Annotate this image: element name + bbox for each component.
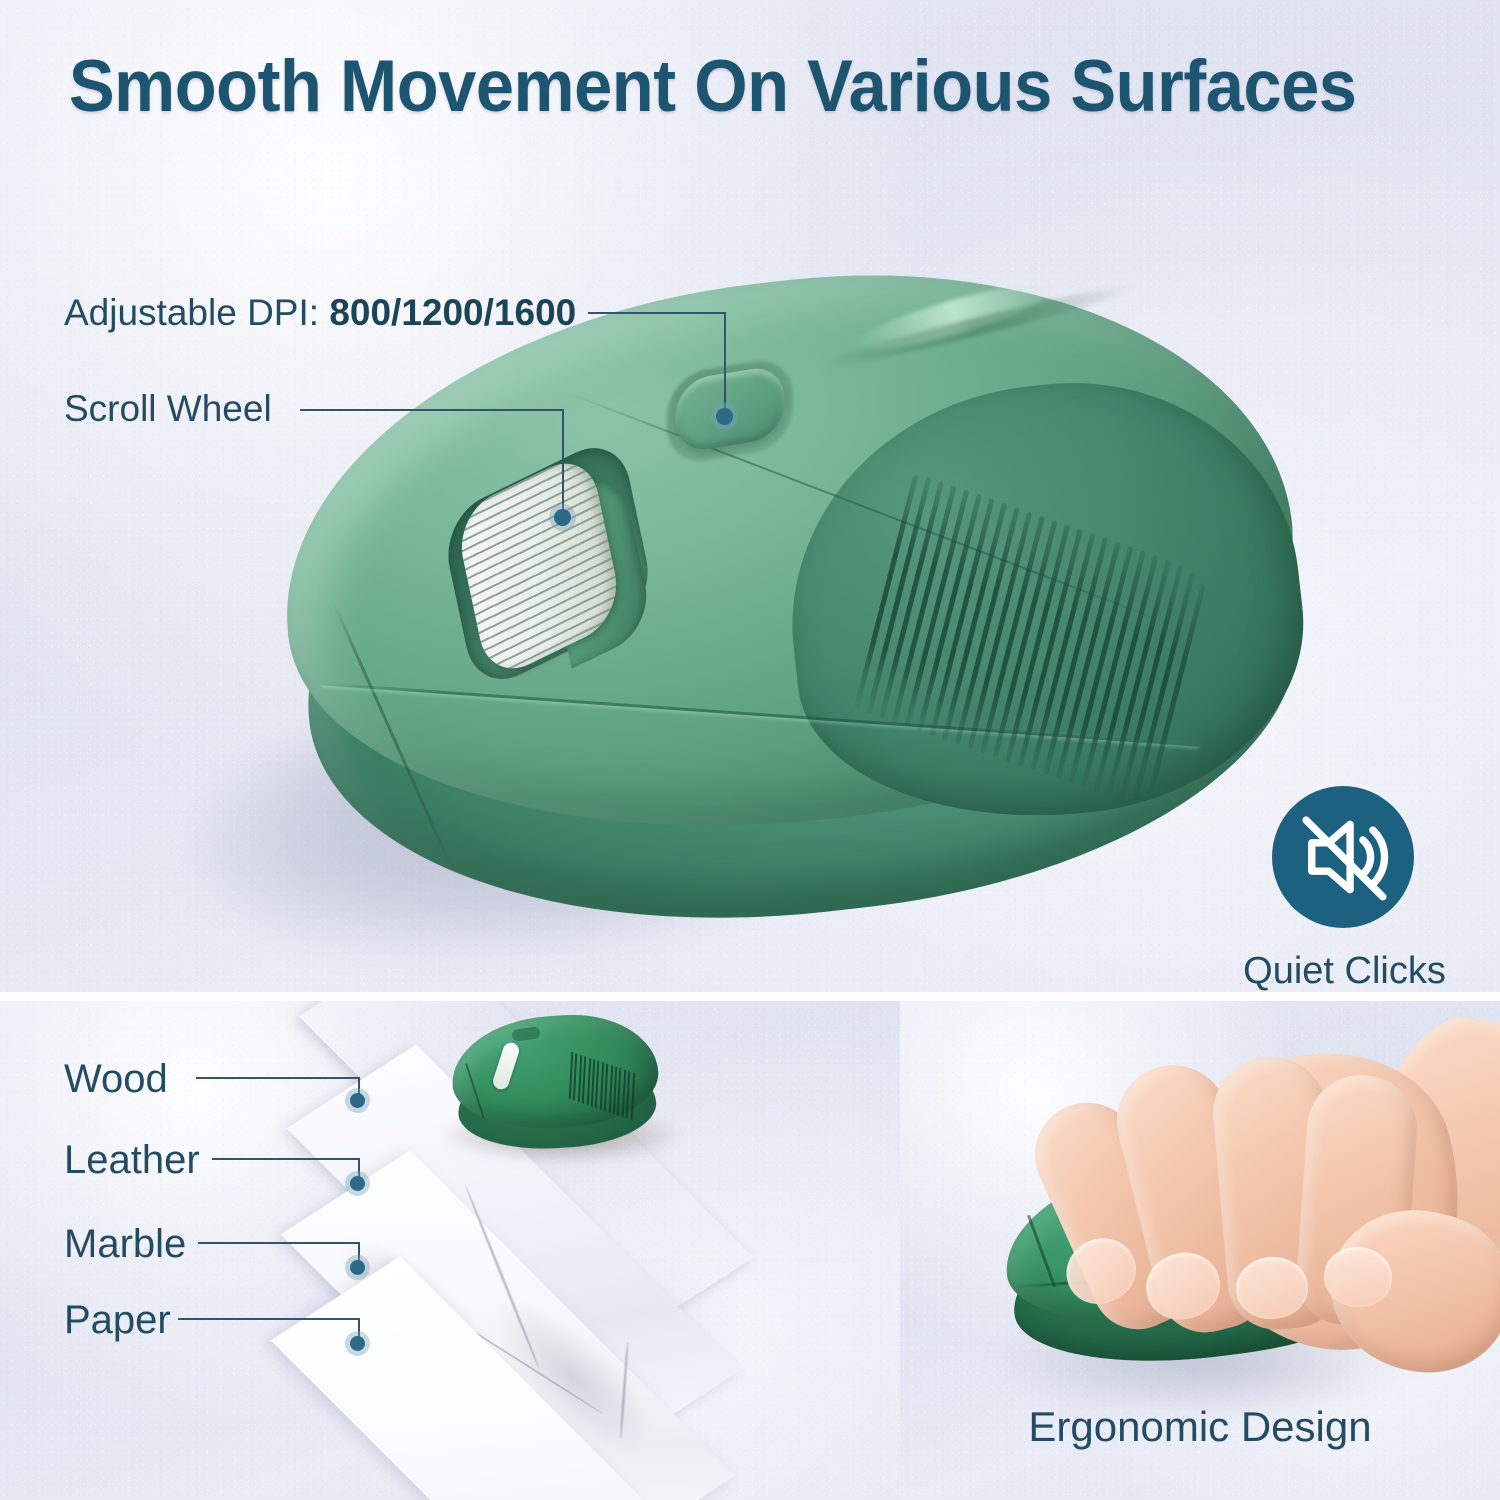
callout-dpi: Adjustable DPI: 800/1200/1600 — [64, 292, 576, 334]
marker-dot-scroll-wheel — [554, 509, 571, 526]
muted-speaker-icon — [1272, 786, 1414, 928]
marker-dot-paper — [350, 1336, 365, 1351]
quiet-clicks-label: Quiet Clicks — [1212, 950, 1477, 992]
main-mouse-product — [250, 258, 1310, 928]
marker-dot-leather — [350, 1176, 365, 1191]
panel-divider — [0, 992, 1500, 1001]
surface-label-marble: Marble — [64, 1222, 186, 1267]
marker-dot-wood — [350, 1093, 365, 1108]
surface-label-paper: Paper — [64, 1298, 171, 1343]
product-feature-image: Smooth Movement On Various Surfaces Adju… — [0, 0, 1500, 1500]
callout-scroll-wheel: Scroll Wheel — [64, 388, 272, 430]
quiet-clicks-badge — [1272, 786, 1414, 928]
ergonomic-design-caption: Ergonomic Design — [900, 1403, 1500, 1451]
marker-dot-dpi — [716, 408, 733, 425]
callout-dpi-prefix: Adjustable DPI: — [64, 292, 329, 333]
small-mouse-on-wood — [452, 1016, 662, 1151]
surface-label-leather: Leather — [64, 1138, 200, 1183]
surface-label-wood: Wood — [64, 1057, 168, 1102]
page-title: Smooth Movement On Various Surfaces — [50, 50, 1375, 123]
marker-dot-marble — [350, 1260, 365, 1275]
callout-dpi-value: 800/1200/1600 — [329, 292, 576, 333]
top-panel: Smooth Movement On Various Surfaces Adju… — [0, 0, 1500, 992]
